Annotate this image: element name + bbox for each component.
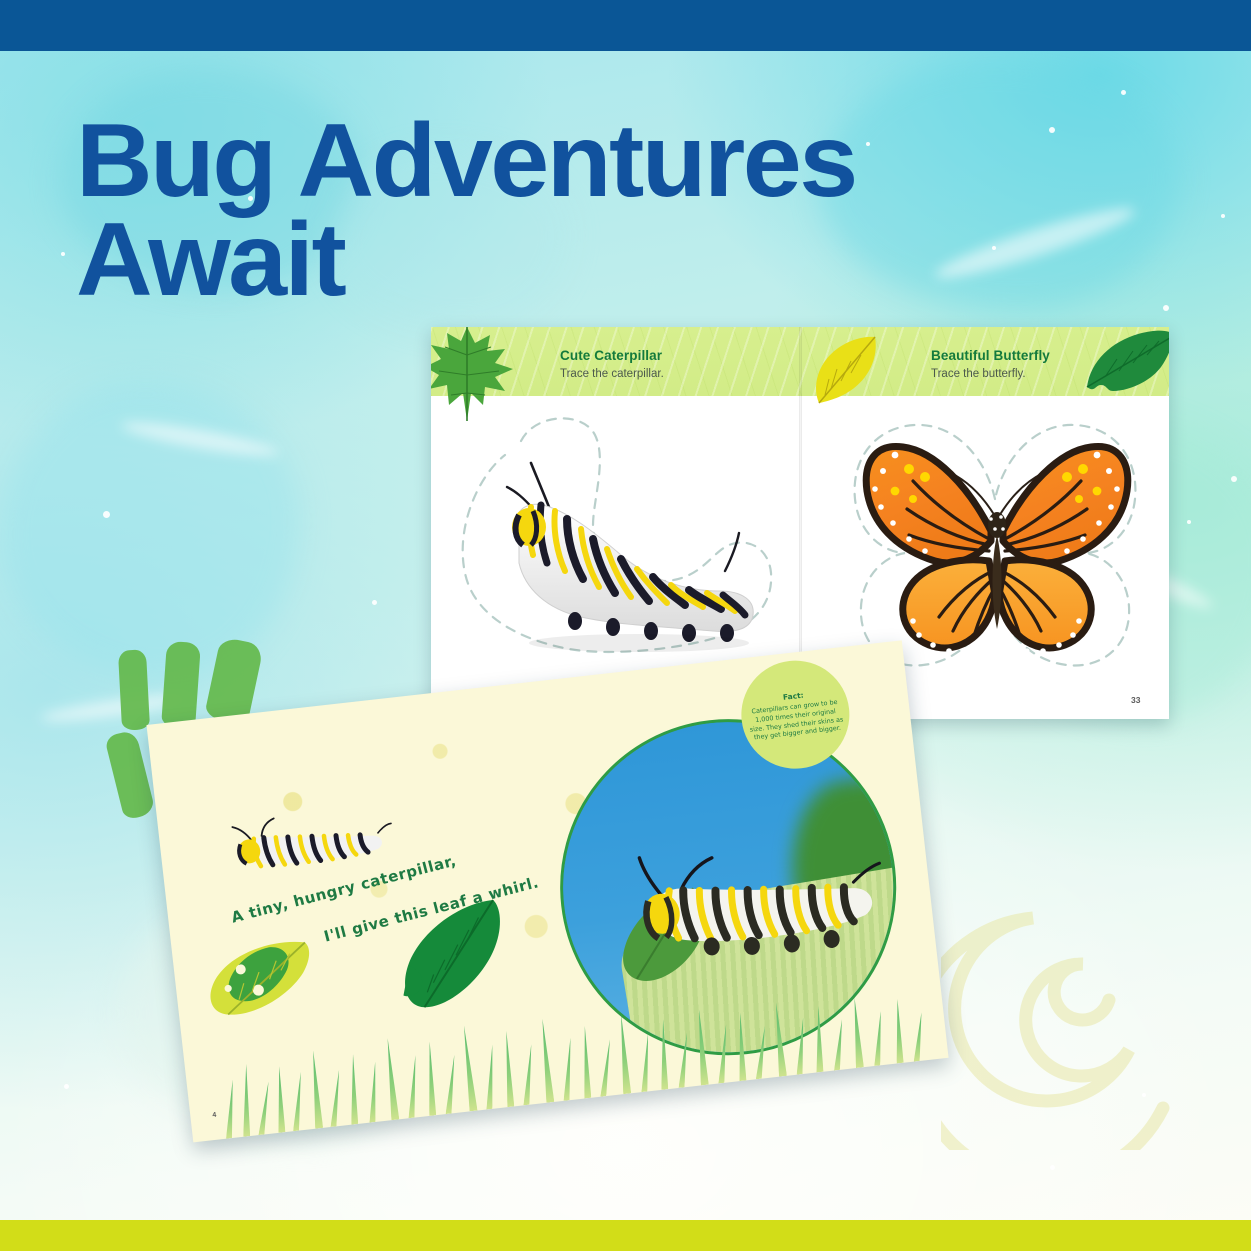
grass-blade <box>503 1030 514 1107</box>
dark-green-leaf-icon <box>1083 329 1169 399</box>
grass-blade <box>851 997 864 1068</box>
right-page-folio: 33 <box>1131 695 1140 705</box>
monarch-caterpillar-photo <box>489 435 779 665</box>
bg-speck <box>1221 214 1225 218</box>
grass-blade <box>258 1081 271 1135</box>
fact-bubble-label: Fact: <box>783 691 805 702</box>
grass-blade <box>874 1011 883 1066</box>
bottom-book-spread: A tiny, hungry caterpillar, I'll give th… <box>146 640 948 1142</box>
grass-blade <box>330 1069 342 1127</box>
monarch-butterfly-photo <box>851 415 1141 677</box>
right-page-header: Beautiful Butterfly Trace the butterfly. <box>931 348 1050 380</box>
page-title: Bug Adventures Await <box>76 112 856 310</box>
grass-blade <box>309 1050 323 1129</box>
bg-speck <box>866 142 870 146</box>
grass-blade <box>564 1037 574 1101</box>
grass-blade <box>797 1017 807 1074</box>
spiral-watermark-icon <box>941 840 1241 1150</box>
brush-stroke <box>118 649 150 730</box>
right-page-title: Beautiful Butterfly <box>931 348 1050 363</box>
bg-speck <box>992 246 996 250</box>
grass-blade <box>581 1026 591 1099</box>
bg-speck <box>1050 1165 1055 1170</box>
bg-speck <box>1231 476 1237 482</box>
grass-blade <box>772 1002 787 1077</box>
bg-speck <box>1049 127 1055 133</box>
grass-blade <box>538 1018 554 1103</box>
grass-blade <box>737 1012 747 1081</box>
brush-stroke <box>161 641 201 729</box>
grass-blade <box>446 1054 458 1114</box>
grass-blade <box>369 1061 378 1122</box>
bg-speck <box>1121 90 1126 95</box>
grass-blade <box>486 1044 495 1109</box>
grass-blade <box>226 1079 236 1138</box>
top-brand-bar <box>0 0 1251 51</box>
right-page-subtitle: Trace the butterfly. <box>931 368 1050 380</box>
bg-speck <box>1187 520 1191 524</box>
grass-blade <box>350 1054 359 1125</box>
grass-blade <box>408 1055 418 1119</box>
grass-blade <box>815 1006 824 1073</box>
grass-blade <box>679 1032 690 1088</box>
grass-blade <box>756 1026 768 1080</box>
bg-speck <box>64 1084 69 1089</box>
grass-blade <box>600 1039 613 1097</box>
grass-blade <box>834 1019 845 1071</box>
left-page-header: Cute Caterpillar Trace the caterpillar. <box>560 348 664 380</box>
grass-blade <box>695 1009 709 1086</box>
chewed-yellow-green-leaf-icon <box>197 934 323 1027</box>
grass-blade <box>641 1033 651 1092</box>
poster-canvas: Bug Adventures Await <box>0 0 1251 1251</box>
grass-blade <box>660 1019 669 1090</box>
grass-blade <box>914 1012 925 1062</box>
bg-speck <box>103 511 110 518</box>
grass-blade <box>894 999 904 1064</box>
grass-blade <box>523 1044 534 1106</box>
bg-speck <box>372 600 377 605</box>
bottom-page-folio: 4 <box>212 1112 217 1119</box>
bottom-brand-bar <box>0 1220 1251 1251</box>
left-page-subtitle: Trace the caterpillar. <box>560 368 664 380</box>
left-page-title: Cute Caterpillar <box>560 348 664 363</box>
grass-blade <box>243 1064 250 1137</box>
grass-blade <box>293 1072 304 1132</box>
grass-blade <box>617 1013 631 1094</box>
yellow-leaf-icon <box>809 333 883 407</box>
grass-blade <box>384 1038 400 1121</box>
fact-bubble-body: Caterpillars can grow to be 1,000 times … <box>746 698 845 743</box>
bg-speck <box>61 252 65 256</box>
grass-blade <box>718 1024 729 1084</box>
grass-blade <box>276 1066 286 1133</box>
grass-blade <box>426 1041 436 1116</box>
bg-speck <box>1163 305 1169 311</box>
grass-blade <box>460 1025 478 1111</box>
